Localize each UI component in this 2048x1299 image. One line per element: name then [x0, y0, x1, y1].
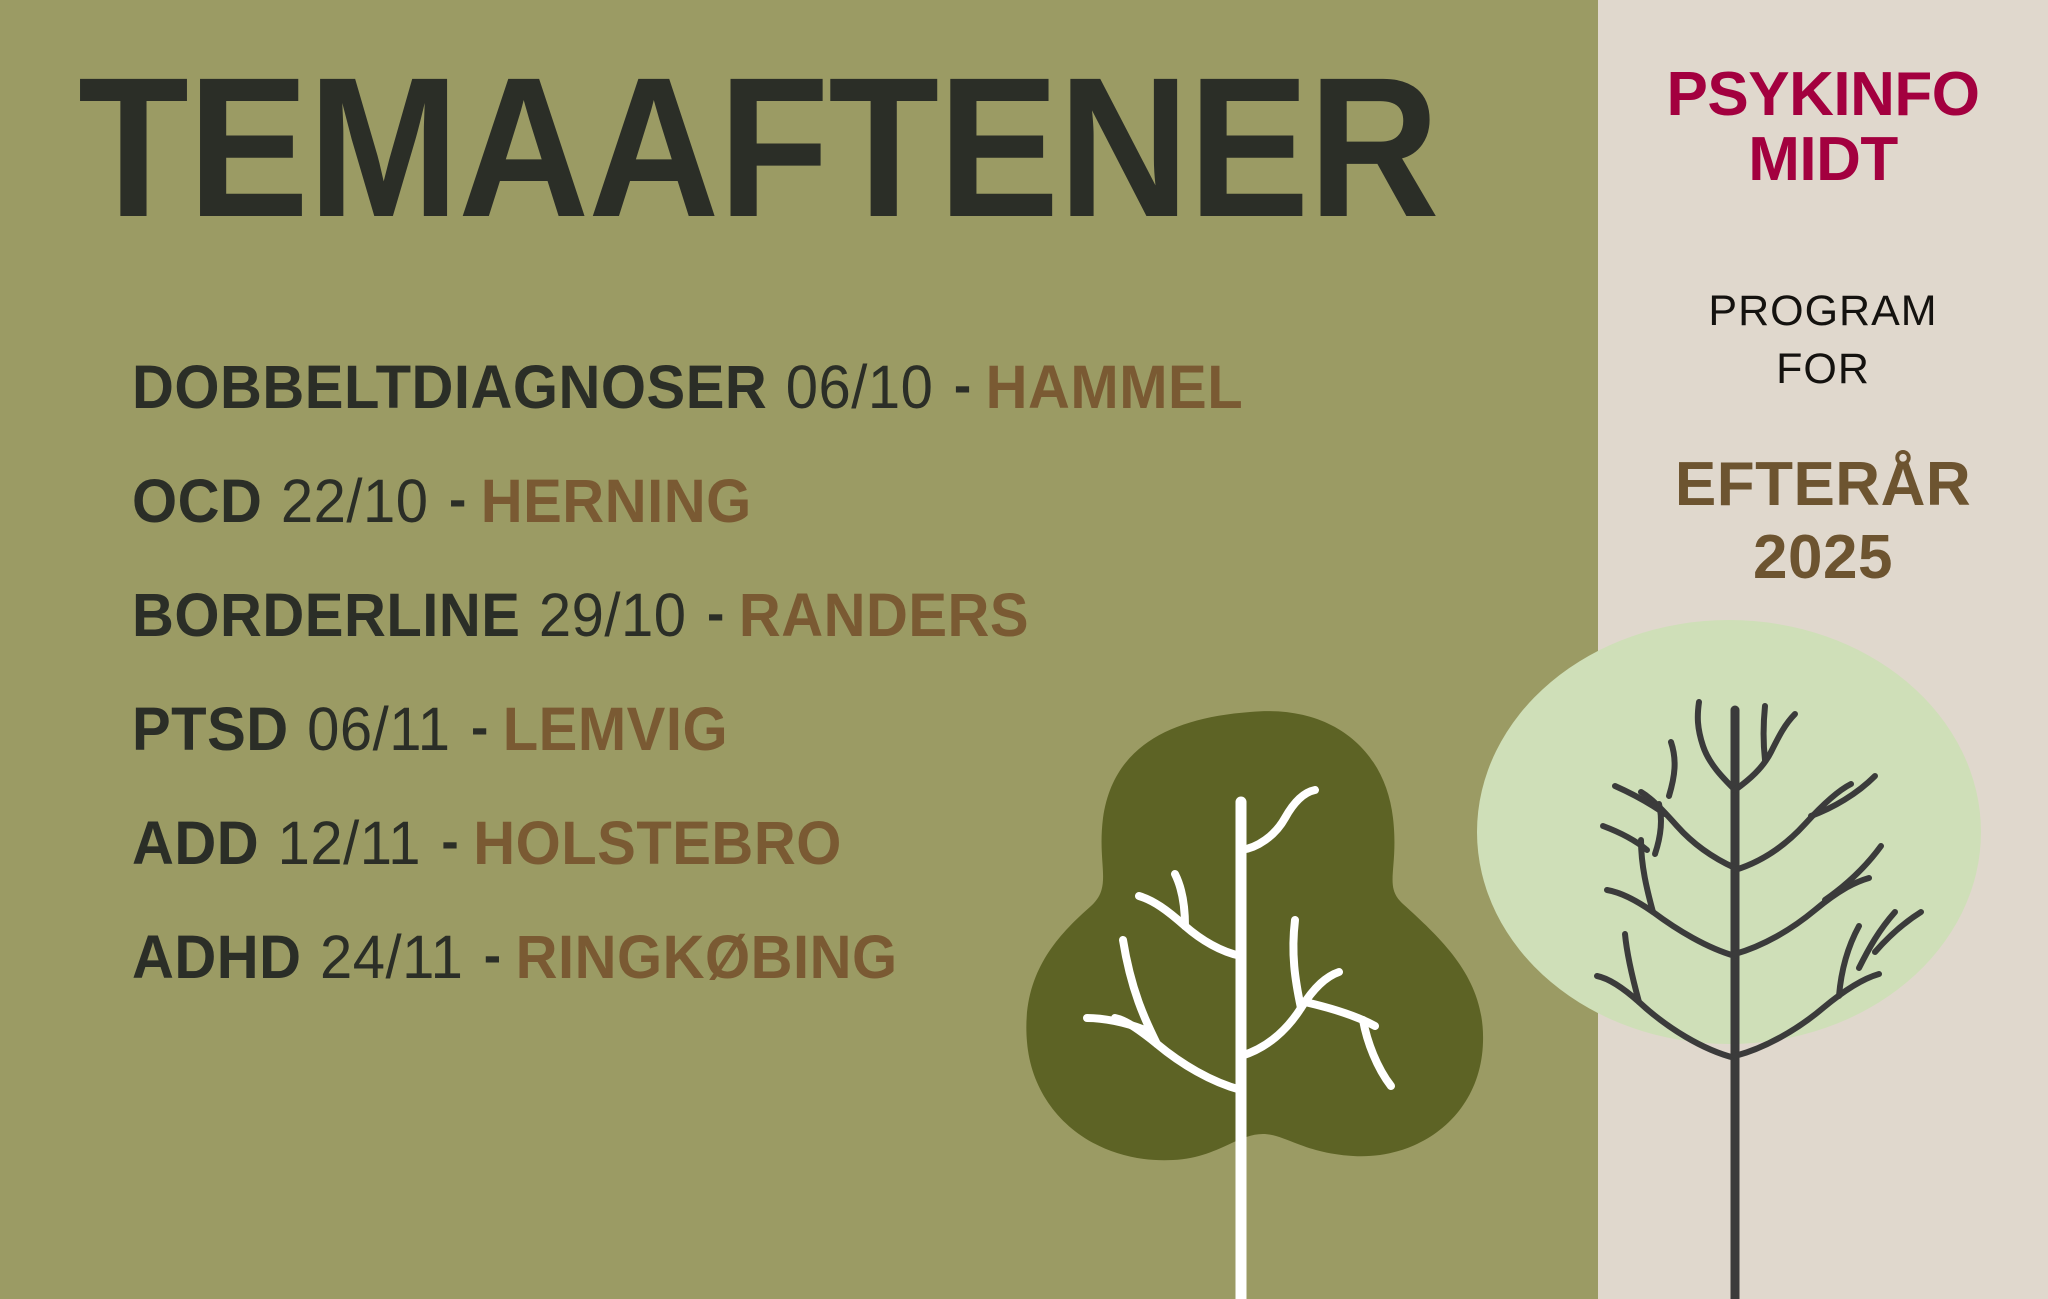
program-line-2: FOR	[1598, 340, 2048, 398]
event-topic: PTSD	[132, 697, 289, 763]
list-item: BORDERLINE 29/10 - RANDERS	[132, 583, 1532, 645]
event-date: 06/10	[786, 355, 934, 421]
list-item: OCD 22/10 - HERNING	[132, 469, 1532, 531]
program-line-1: PROGRAM	[1708, 287, 1937, 335]
event-city: LEMVIG	[503, 697, 728, 763]
event-date: 06/11	[307, 697, 450, 763]
brand-line-1: PSYKINFO	[1667, 60, 1980, 129]
event-city: HAMMEL	[986, 355, 1244, 421]
event-city: RANDERS	[739, 583, 1029, 649]
event-topic: BORDERLINE	[132, 583, 520, 649]
event-city: HOLSTEBRO	[473, 811, 842, 877]
event-topic: DOBBELTDIAGNOSER	[132, 355, 767, 421]
season-label: EFTERÅR 2025	[1598, 448, 2048, 594]
event-date: 12/11	[278, 811, 421, 877]
event-city: HERNING	[481, 469, 752, 535]
season-line-1: EFTERÅR	[1675, 450, 1971, 519]
event-separator: -	[441, 811, 458, 873]
list-item: DOBBELTDIAGNOSER 06/10 - HAMMEL	[132, 355, 1532, 417]
event-separator: -	[449, 469, 466, 531]
page-title: TEMAAFTENER	[78, 48, 1439, 247]
event-date: 22/10	[281, 469, 429, 535]
event-topic: ADD	[132, 811, 259, 877]
event-topic: ADHD	[132, 925, 302, 991]
event-city: RINGKØBING	[516, 925, 898, 991]
tree-illustration-olive	[985, 690, 1515, 1299]
event-separator: -	[707, 583, 724, 645]
event-separator: -	[954, 355, 971, 417]
olive-tree-icon	[985, 690, 1515, 1299]
season-line-2: 2025	[1598, 521, 2048, 594]
brand-line-2: MIDT	[1598, 127, 2048, 192]
tree-illustration-light	[1455, 600, 2015, 1299]
event-date: 29/10	[539, 583, 687, 649]
poster-canvas: TEMAAFTENER DOBBELTDIAGNOSER 06/10 - HAM…	[0, 0, 2048, 1299]
event-topic: OCD	[132, 469, 262, 535]
event-separator: -	[471, 697, 488, 759]
brand-logo: PSYKINFO MIDT	[1598, 62, 2048, 192]
light-tree-icon	[1455, 600, 2015, 1299]
program-label: PROGRAM FOR	[1598, 282, 2048, 398]
event-separator: -	[484, 925, 501, 987]
event-date: 24/11	[320, 925, 463, 991]
